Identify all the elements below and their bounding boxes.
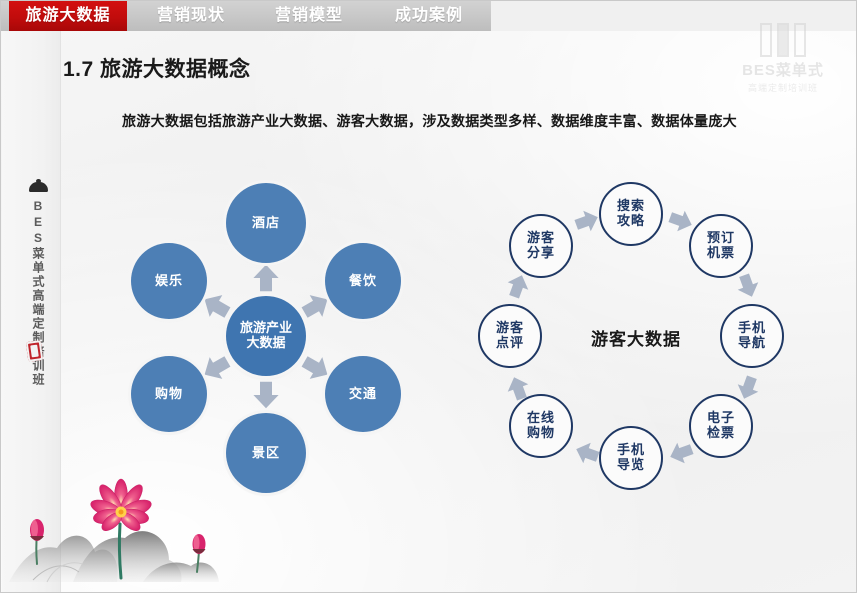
- industry-node-label: 餐饮: [349, 274, 377, 289]
- industry-node-label: 交通: [349, 387, 377, 402]
- slide-canvas: 旅游大数据营销现状营销模型成功案例 1.7 旅游大数据概念 旅游大数据包括旅游产…: [0, 0, 857, 593]
- industry-node-3[interactable]: 景区: [226, 413, 306, 493]
- page-subtitle: 旅游大数据包括旅游产业大数据、游客大数据，涉及数据类型多样、数据维度丰富、数据体…: [1, 111, 857, 131]
- flow-arrow-right-1: [731, 269, 764, 302]
- bes-mark-icon: [760, 23, 806, 57]
- tourist-cycle-node-3[interactable]: 电子检票: [689, 394, 753, 458]
- tourist-cycle-node-1[interactable]: 预订机票: [689, 214, 753, 278]
- industry-node-0[interactable]: 酒店: [226, 183, 306, 263]
- tourist-cycle-node-0[interactable]: 搜索攻略: [599, 182, 663, 246]
- tourist-cycle-node-4[interactable]: 手机导览: [599, 426, 663, 490]
- industry-center-node[interactable]: 旅游产业大数据: [226, 296, 306, 376]
- tourist-cycle-node-label-line1: 电子: [707, 411, 735, 426]
- industry-node-1[interactable]: 餐饮: [325, 243, 401, 319]
- flow-arrow-left-3: [251, 380, 281, 410]
- tab-0[interactable]: 旅游大数据: [9, 1, 127, 31]
- industry-node-2[interactable]: 交通: [325, 356, 401, 432]
- tourist-cycle-node-5[interactable]: 在线购物: [509, 394, 573, 458]
- tab-1[interactable]: 营销现状: [141, 1, 241, 31]
- tourist-cycle-node-label-line2: 攻略: [617, 214, 645, 229]
- industry-node-label: 购物: [155, 387, 183, 402]
- flow-arrow-left-0: [251, 263, 281, 293]
- tourist-cycle-node-7[interactable]: 游客分享: [509, 214, 573, 278]
- tourist-cycle-node-label-line1: 搜索: [617, 199, 645, 214]
- tourist-bigdata-cycle-diagram: 搜索攻略预订机票手机导航电子检票手机导览在线购物游客点评游客分享游客大数据: [463, 161, 823, 511]
- watermark-subtitle: 高端定制培训班: [724, 81, 842, 94]
- tourist-bigdata-center-label: 游客大数据: [463, 325, 809, 350]
- brand-watermark: BES菜单式 高端定制培训班: [724, 23, 842, 94]
- tourist-cycle-node-label-line2: 检票: [707, 426, 735, 441]
- tourist-cycle-node-label-line2: 导览: [617, 458, 645, 473]
- tourist-cycle-node-label-line2: 机票: [707, 246, 735, 261]
- tourism-industry-bigdata-diagram: 酒店餐饮交通景区购物娱乐旅游产业大数据: [111, 161, 441, 511]
- seal-stamp-icon: [26, 340, 44, 362]
- watermark-title: BES菜单式: [724, 59, 842, 80]
- industry-node-5[interactable]: 娱乐: [131, 243, 207, 319]
- industry-node-4[interactable]: 购物: [131, 356, 207, 432]
- industry-node-label: 娱乐: [155, 274, 183, 289]
- page-title: 1.7 旅游大数据概念: [63, 53, 251, 83]
- tab-3[interactable]: 成功案例: [379, 1, 479, 31]
- tourist-cycle-node-label-line1: 预订: [707, 231, 735, 246]
- sidebar-brand-strip: BES菜单式高端定制培训班: [2, 31, 61, 593]
- tourist-cycle-node-label-line1: 在线: [527, 411, 555, 426]
- industry-center-label-line1: 旅游产业: [240, 321, 292, 336]
- tourist-cycle-node-label-line2: 分享: [527, 246, 555, 261]
- industry-node-label: 酒店: [252, 216, 280, 231]
- tourist-cycle-node-label-line1: 手机: [617, 443, 645, 458]
- tourist-cycle-node-label-line1: 游客: [527, 231, 555, 246]
- bes-dome-logo-icon: [29, 179, 48, 192]
- industry-node-label: 景区: [252, 446, 280, 461]
- tab-2[interactable]: 营销模型: [259, 1, 359, 31]
- industry-center-label-line2: 大数据: [246, 336, 285, 351]
- tourist-cycle-node-label-line2: 购物: [527, 426, 555, 441]
